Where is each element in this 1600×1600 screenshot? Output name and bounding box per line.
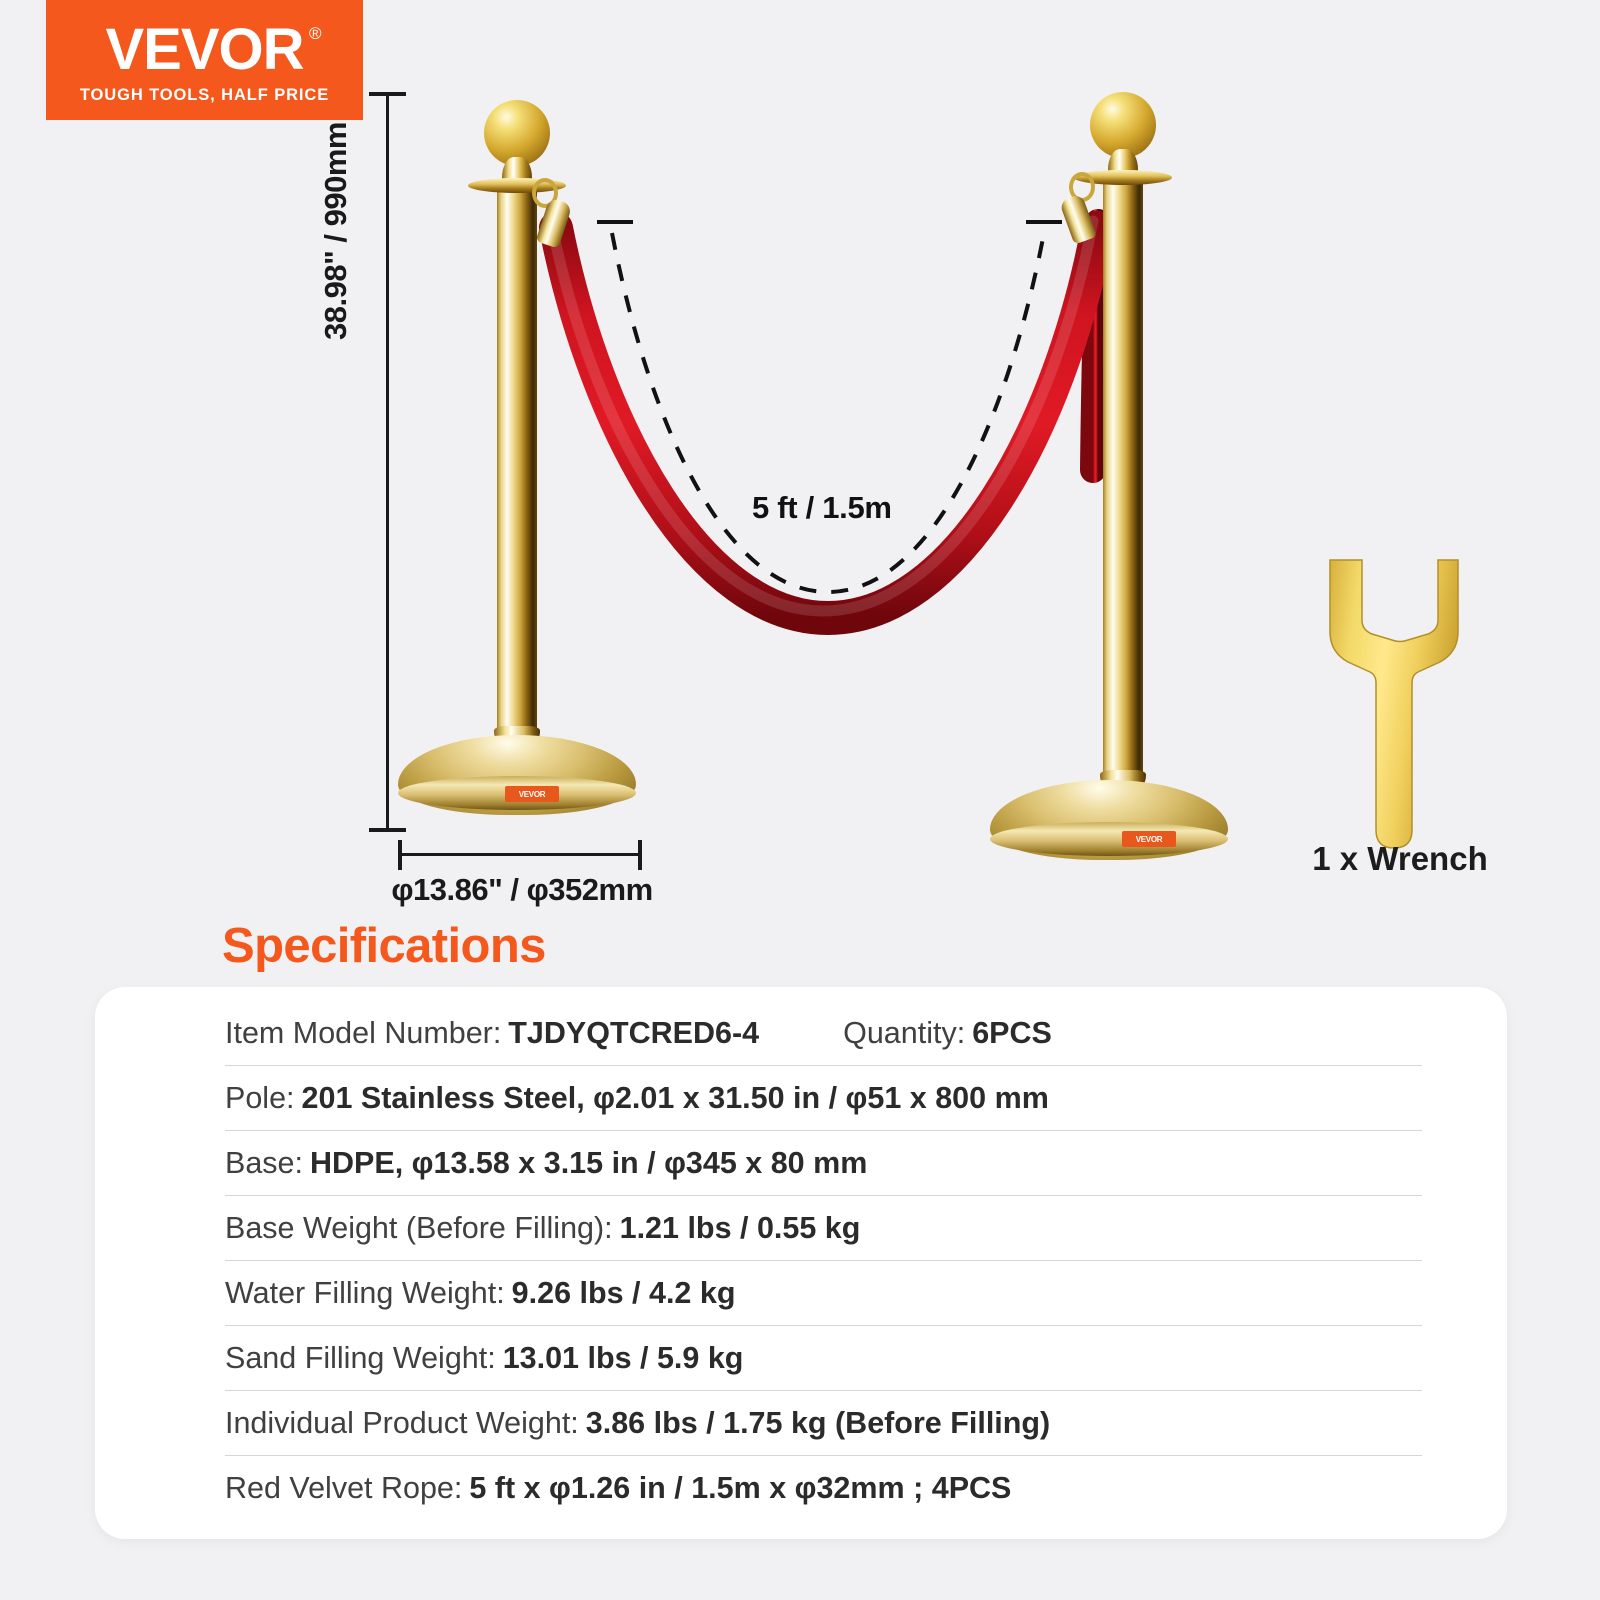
spec-value: 201 Stainless Steel, φ2.01 x 31.50 in / … xyxy=(302,1081,1049,1116)
rope-clasp-icon xyxy=(1059,193,1097,244)
rope-length-label: 5 ft / 1.5m xyxy=(752,490,892,526)
spec-label: Water Filling Weight: xyxy=(225,1276,505,1311)
spec-label: Sand Filling Weight: xyxy=(225,1341,496,1376)
base-diameter-label: φ13.86" / φ352mm xyxy=(372,872,672,908)
spec-row-model-quantity: Item Model Number: TJDYQTCRED6-4 Quantit… xyxy=(225,1001,1422,1066)
spec-value: HDPE, φ13.58 x 3.15 in / φ345 x 80 mm xyxy=(310,1146,867,1181)
dimension-line-vertical xyxy=(386,92,389,832)
pole-shaft xyxy=(1103,178,1143,796)
spec-label-quantity: Quantity: xyxy=(843,1016,965,1051)
spec-row-water-filling: Water Filling Weight: 9.26 lbs / 4.2 kg xyxy=(225,1261,1422,1326)
spec-row-pole: Pole: 201 Stainless Steel, φ2.01 x 31.50… xyxy=(225,1066,1422,1131)
base-brand-sticker: VEVOR xyxy=(1122,831,1176,847)
spec-row-sand-filling: Sand Filling Weight: 13.01 lbs / 5.9 kg xyxy=(225,1326,1422,1391)
base-diameter-dimension-line xyxy=(398,840,642,870)
height-dimension-line xyxy=(356,92,426,832)
red-velvet-rope xyxy=(556,228,1098,618)
spec-value-quantity: 6PCS xyxy=(972,1016,1052,1051)
wrench-accessory-label: 1 x Wrench xyxy=(1240,840,1560,878)
spec-label: Red Velvet Rope: xyxy=(225,1471,462,1506)
spec-value: 13.01 lbs / 5.9 kg xyxy=(503,1341,744,1376)
product-illustration: 38.98" / 990mm xyxy=(0,0,1600,915)
specifications-card: Item Model Number: TJDYQTCRED6-4 Quantit… xyxy=(95,987,1507,1539)
rope-length-dashed-arc xyxy=(612,233,1044,592)
wrench-icon xyxy=(1300,548,1500,868)
pole-shaft xyxy=(497,186,537,746)
base-rim xyxy=(990,822,1228,856)
spec-label: Base Weight (Before Filling): xyxy=(225,1211,613,1246)
spec-value: 9.26 lbs / 4.2 kg xyxy=(512,1276,736,1311)
spec-value: 5 ft x φ1.26 in / 1.5m x φ32mm ; 4PCS xyxy=(469,1471,1011,1506)
dimension-tick-top xyxy=(369,92,406,96)
spec-label: Individual Product Weight: xyxy=(225,1406,579,1441)
base-brand-sticker: VEVOR xyxy=(505,786,559,802)
spec-row-base: Base: HDPE, φ13.58 x 3.15 in / φ345 x 80… xyxy=(225,1131,1422,1196)
specifications-heading: Specifications xyxy=(222,918,546,974)
spec-label: Pole: xyxy=(225,1081,295,1116)
rope-highlight xyxy=(551,221,1093,611)
rope-secondary-tail xyxy=(1093,222,1098,470)
spec-value: 1.21 lbs / 0.55 kg xyxy=(620,1211,861,1246)
spec-row-base-weight: Base Weight (Before Filling): 1.21 lbs /… xyxy=(225,1196,1422,1261)
spec-label: Base: xyxy=(225,1146,303,1181)
height-dimension-label: 38.98" / 990mm xyxy=(318,122,354,340)
dimension-line-horizontal xyxy=(398,853,642,856)
spec-value: 3.86 lbs / 1.75 kg (Before Filling) xyxy=(586,1406,1050,1441)
dimension-tick-bottom xyxy=(369,828,406,832)
spec-row-product-weight: Individual Product Weight: 3.86 lbs / 1.… xyxy=(225,1391,1422,1456)
wrench-accessory xyxy=(1300,548,1500,868)
dimension-tick-right xyxy=(638,840,642,870)
spec-label: Item Model Number: xyxy=(225,1016,501,1051)
spec-row-velvet-rope: Red Velvet Rope: 5 ft x φ1.26 in / 1.5m … xyxy=(225,1456,1422,1521)
dimension-tick-left xyxy=(398,840,402,870)
spec-value: TJDYQTCRED6-4 xyxy=(508,1016,759,1051)
wrench-body xyxy=(1330,560,1458,848)
